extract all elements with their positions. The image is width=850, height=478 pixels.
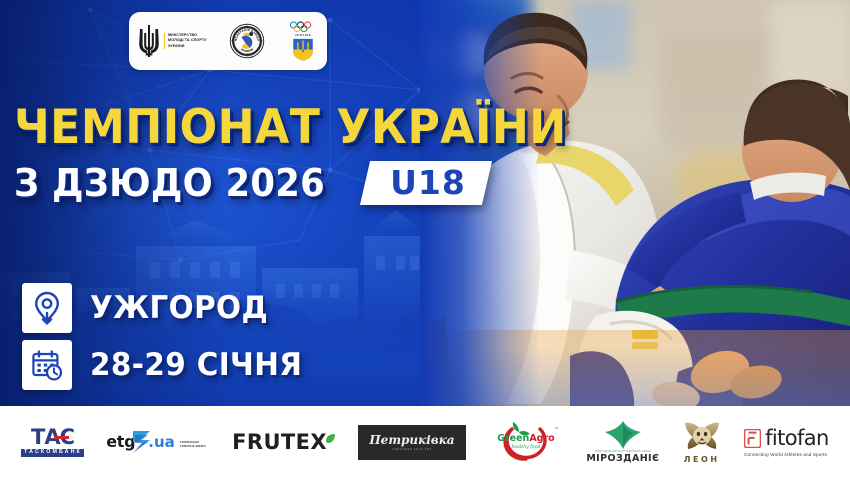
fitofan-wordmark: fitofan xyxy=(765,428,829,449)
event-date: 28-29 СІЧНЯ xyxy=(90,350,302,381)
petrykivka-sub-text: UKRAINIAN FOLK ART xyxy=(392,447,431,451)
ministry-text: МІНІСТЕРСТВО МОЛОДІ ТА СПОРТУ УКРАЇНИ xyxy=(164,33,207,49)
greenagro-sub-text: healthy food xyxy=(511,445,540,450)
sponsor-frutex[interactable]: FRUTEX xyxy=(232,432,336,453)
noc-word: UKRAINE xyxy=(295,33,312,37)
sponsor-greenagro[interactable]: ™ GreenAgro healthy food xyxy=(488,419,564,465)
tascombank-wordmark: ТАС xyxy=(31,427,74,448)
tascombank-red-bar xyxy=(54,436,69,439)
title-line-2: З ДЗЮДО 2026 xyxy=(14,164,325,202)
age-category-badge: U18 xyxy=(360,161,492,205)
sponsor-bar: ТАС ТАСКОМБАНК etg .ua УКРАЇНСЬКА ТОВАРН… xyxy=(0,406,850,478)
organizer-logo-bar: МІНІСТЕРСТВО МОЛОДІ ТА СПОРТУ УКРАЇНИ xyxy=(129,12,327,70)
date-row: 28-29 СІЧНЯ xyxy=(22,340,314,390)
frutex-leaf-icon xyxy=(325,433,336,444)
ministry-line-3: УКРАЇНИ xyxy=(168,44,207,49)
ministry-logo: МІНІСТЕРСТВО МОЛОДІ ТА СПОРТУ УКРАЇНИ xyxy=(138,24,207,58)
event-poster: 0 0 0 0 3:0 xyxy=(0,0,850,478)
tascombank-sub-text: ТАСКОМБАНК xyxy=(21,449,84,456)
greenagro-red-text: Agro xyxy=(529,433,554,444)
photo-bottom-fade xyxy=(420,346,850,406)
fitofan-tagline: Connecting World Athletes and Sports xyxy=(744,452,827,457)
sponsor-etg-ua[interactable]: etg .ua УКРАЇНСЬКА ТОВАРНА БІРЖА xyxy=(106,434,210,450)
location-icon-box xyxy=(22,283,72,333)
sponsor-petrykivka[interactable]: Петриківка UKRAINIAN FOLK ART xyxy=(358,425,465,460)
etg-z-mark xyxy=(131,429,152,455)
ministry-line-2: МОЛОДІ ТА СПОРТУ xyxy=(168,38,207,43)
greenagro-wordmark: GreenAgro xyxy=(497,434,555,444)
mirozdanie-wordmark: МІРОЗДАНІЄ xyxy=(586,454,659,464)
title-line-1: ЧЕМПІОНАТУКРАЇНИ xyxy=(14,104,567,151)
age-category-label: U18 xyxy=(391,166,467,199)
leon-lion-icon xyxy=(682,421,722,455)
petrykivka-wordmark: Петриківка xyxy=(369,434,454,446)
title-line-2-row: З ДЗЮДО 2026 U18 xyxy=(14,161,602,205)
date-icon-box xyxy=(22,340,72,390)
sponsor-mirozdanie[interactable]: БЛАГОДІЙНИЙ БЛАГОДІЙНИЙ ФОНД МІРОЗДАНІЄ xyxy=(586,421,659,464)
fitofan-icon xyxy=(744,429,761,448)
event-location: УЖГОРОД xyxy=(90,293,268,324)
judo-federation-logo: ФЕДЕРАЦІЯ ДЗЮДО УКРАЇНИ xyxy=(229,23,265,59)
noc-ukraine-shield xyxy=(291,38,315,61)
frutex-wordmark: FRUTEX xyxy=(232,432,327,453)
leon-wordmark: ЛЕОН xyxy=(684,456,720,464)
mirozdanie-leaf-icon xyxy=(605,421,641,449)
location-row: УЖГОРОД xyxy=(22,283,314,333)
title-word-championship: ЧЕМПІОНАТ xyxy=(14,100,320,155)
poster-title: ЧЕМПІОНАТУКРАЇНИ З ДЗЮДО 2026 U18 xyxy=(14,104,602,205)
ukraine-trident-emblem xyxy=(138,24,160,58)
greenagro-green-text: Green xyxy=(497,433,529,444)
title-word-ukraine: УКРАЇНИ xyxy=(336,100,566,155)
etg-domain-text: .ua xyxy=(148,435,175,450)
sponsor-tascombank[interactable]: ТАС ТАСКОМБАНК xyxy=(21,427,84,456)
etg-sub-text: УКРАЇНСЬКА ТОВАРНА БІРЖА xyxy=(180,440,210,448)
sponsor-fitofan[interactable]: fitofan Connecting World Athletes and Sp… xyxy=(744,428,829,457)
map-pin-icon xyxy=(32,291,62,325)
judo-federation-ukraine-emblem: ФЕДЕРАЦІЯ ДЗЮДО УКРАЇНИ xyxy=(229,23,265,59)
event-info-block: УЖГОРОД 28 xyxy=(22,283,314,397)
calendar-clock-icon xyxy=(31,349,63,381)
olympic-rings-icon xyxy=(288,21,318,32)
sponsor-leon[interactable]: ЛЕОН xyxy=(682,421,722,464)
noc-ukraine-logo: UKRAINE xyxy=(288,21,318,61)
